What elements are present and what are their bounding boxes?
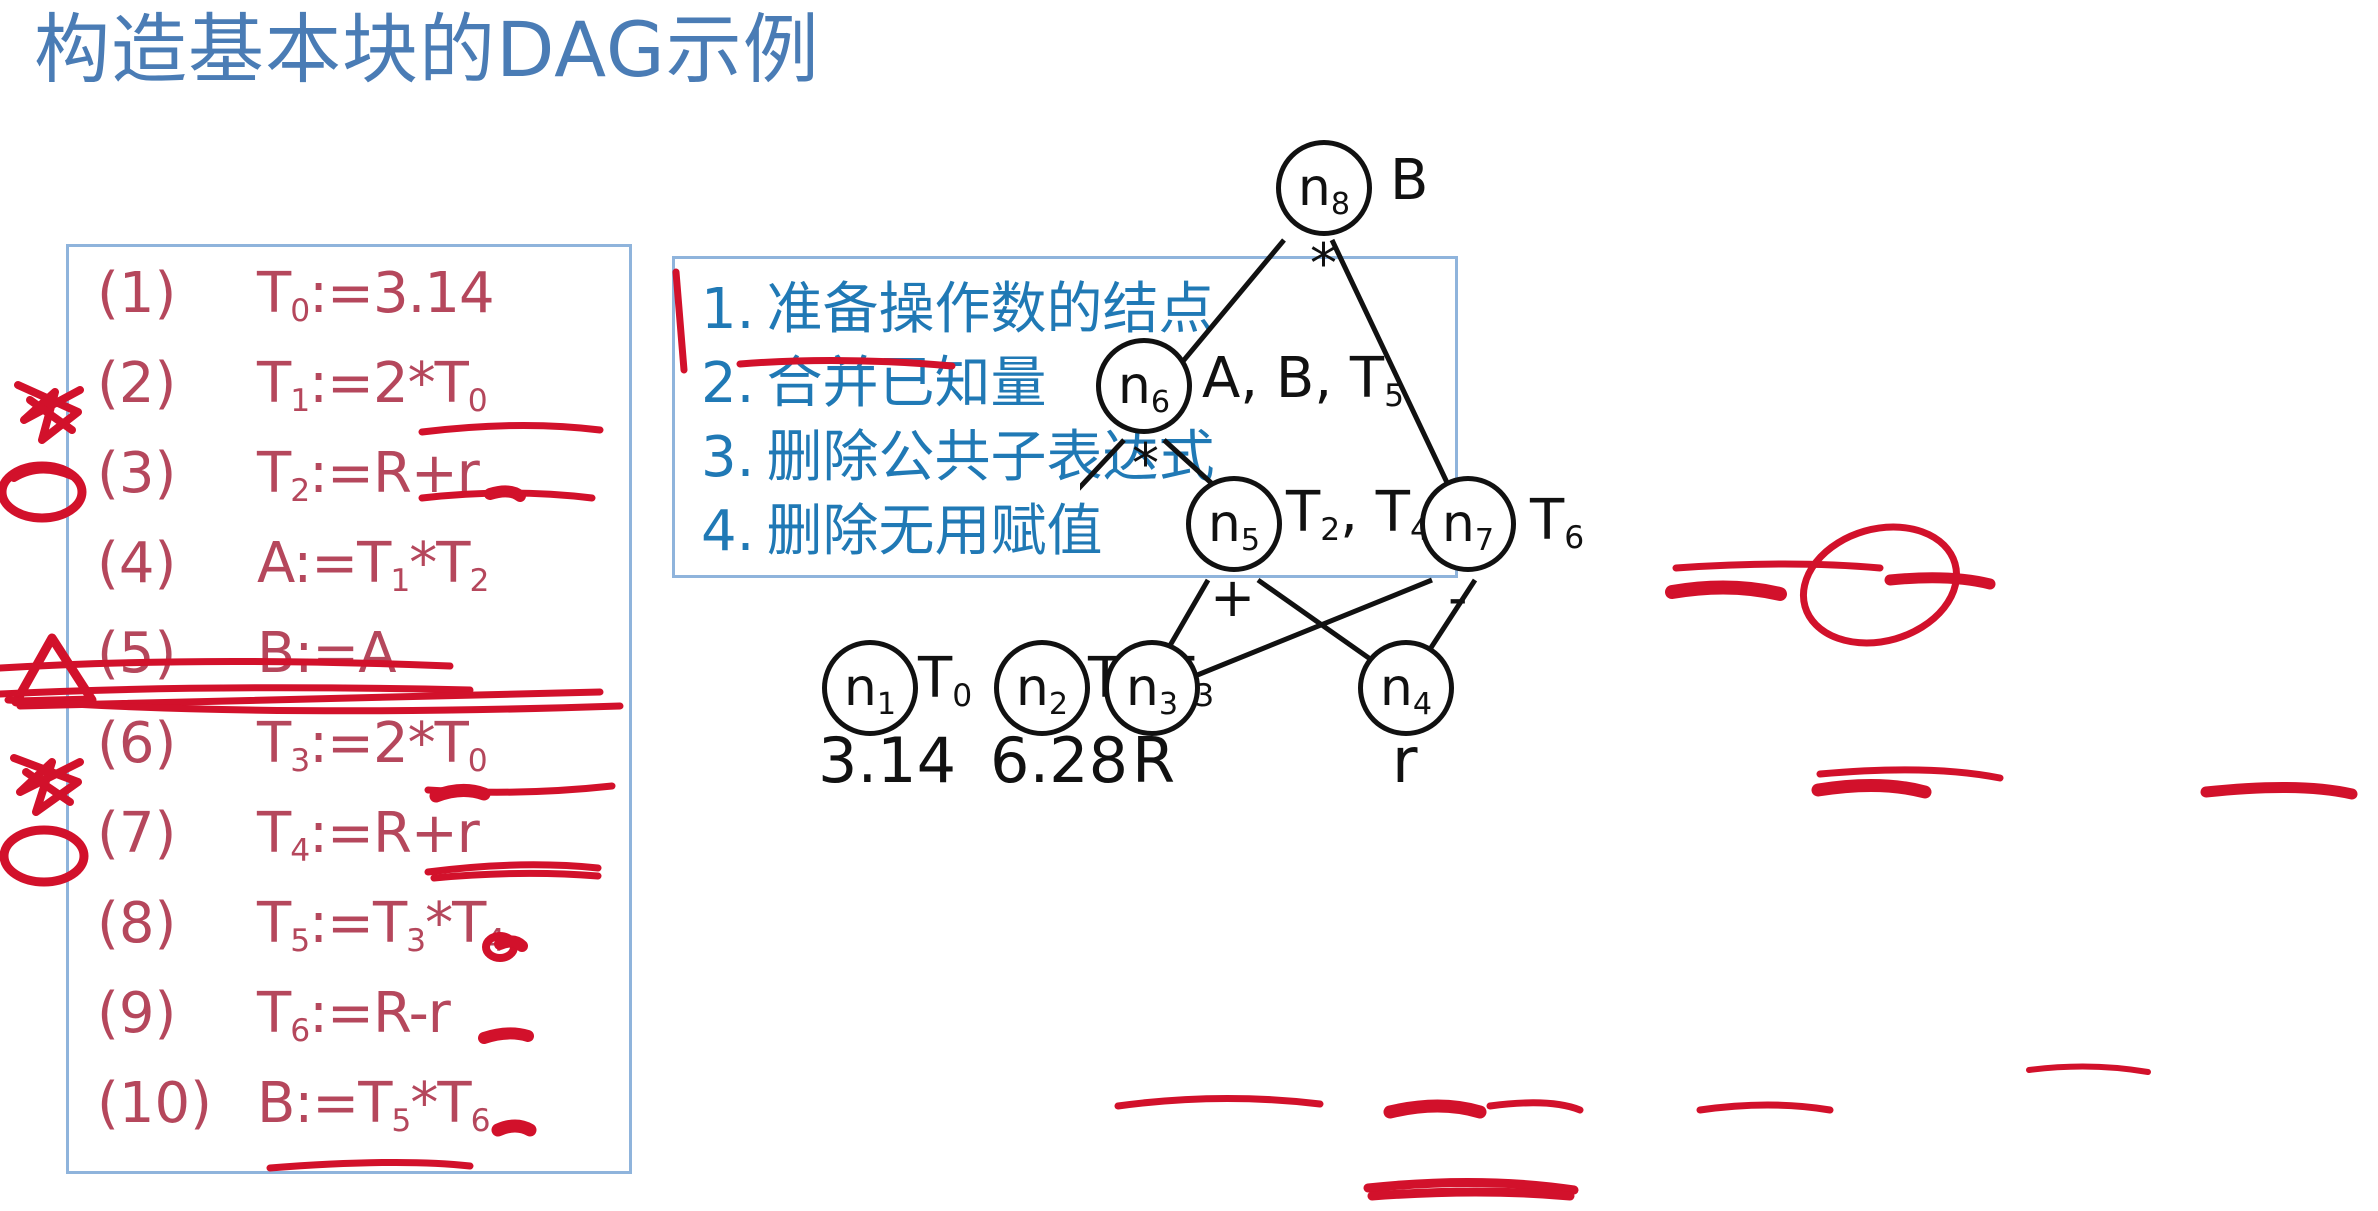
dag-node-name: n3: [1126, 658, 1178, 718]
dag-node-name: n4: [1380, 658, 1432, 718]
dag-node-op-n8: *: [1310, 232, 1337, 295]
code-line-number: (3): [69, 441, 257, 506]
dag-node-label-n6: A, B, T5: [1202, 346, 1404, 411]
dag-node-n2[interactable]: n2: [994, 640, 1090, 736]
dag-node-value-n1: 3.14: [818, 724, 956, 797]
code-line-number: (9): [69, 981, 257, 1046]
code-statement: T6:=R-r: [257, 981, 450, 1046]
dag-node-op-n6: *: [1132, 432, 1159, 495]
code-statement: T2:=R+r: [257, 441, 479, 506]
dag-node-name: n2: [1016, 658, 1068, 718]
dag-node-value-n3: R: [1132, 724, 1175, 797]
dag-node-n3[interactable]: n3: [1104, 640, 1200, 736]
dag-node-label-n1: T0: [918, 646, 972, 711]
dag-node-n1[interactable]: n1: [822, 640, 918, 736]
step-number: 2.: [701, 351, 754, 416]
step-number: 1.: [701, 277, 754, 342]
dag-edges: [1080, 140, 2378, 1210]
code-line-number: (2): [69, 351, 257, 416]
dag-node-n5[interactable]: n5: [1186, 476, 1282, 572]
dag-node-label-n5: T2, T4: [1286, 480, 1430, 545]
dag-node-name: n6: [1118, 356, 1170, 416]
code-statement: A:=T1*T2: [257, 531, 488, 596]
code-row: (10) B:=T5*T6: [69, 1071, 629, 1161]
page-title: 构造基本块的DAG示例: [34, 6, 820, 93]
code-statement: T5:=T3*T4: [257, 891, 504, 956]
dag-node-n6[interactable]: n6: [1096, 338, 1192, 434]
code-line-number: (7): [69, 801, 257, 866]
dag-node-name: n7: [1442, 494, 1494, 554]
code-line-number: (6): [69, 711, 257, 776]
dag-node-name: n5: [1208, 494, 1260, 554]
code-statement: T1:=2*T0: [257, 351, 487, 416]
code-listing: (1) T0:=3.14 (2) T1:=2*T0 (3) T2:=R+r (4…: [69, 247, 629, 1171]
code-line-number: (10): [69, 1071, 257, 1136]
step-number: 3.: [701, 425, 754, 490]
dag-diagram: n8 B * n6 A, B, T5 * n5 T2, T4 + n7 T6 -…: [1080, 140, 2378, 1210]
step-label: 删除无用赋值: [766, 499, 1102, 564]
code-row: (4) A:=T1*T2: [69, 531, 629, 621]
dag-node-label-n7: T6: [1530, 488, 1584, 553]
code-statement: T3:=2*T0: [257, 711, 487, 776]
code-statement: B:=A: [257, 621, 396, 686]
dag-node-label-n8: B: [1390, 148, 1428, 213]
dag-node-n8[interactable]: n8: [1276, 140, 1372, 236]
code-line-number: (4): [69, 531, 257, 596]
code-row: (8) T5:=T3*T4: [69, 891, 629, 981]
dag-node-op-n5: +: [1210, 566, 1255, 629]
code-statement: T0:=3.14: [257, 261, 494, 326]
dag-node-op-n7: -: [1448, 566, 1468, 629]
code-row: (2) T1:=2*T0: [69, 351, 629, 441]
code-statement: B:=T5*T6: [257, 1071, 490, 1136]
code-row: (3) T2:=R+r: [69, 441, 629, 531]
dag-node-name: n8: [1298, 158, 1350, 218]
code-listing-box: (1) T0:=3.14 (2) T1:=2*T0 (3) T2:=R+r (4…: [66, 244, 632, 1174]
dag-node-value-n4: r: [1392, 724, 1418, 797]
dag-node-n7[interactable]: n7: [1420, 476, 1516, 572]
code-row: (5) B:=A: [69, 621, 629, 711]
code-row: (6) T3:=2*T0: [69, 711, 629, 801]
code-line-number: (8): [69, 891, 257, 956]
code-row: (9) T6:=R-r: [69, 981, 629, 1071]
code-statement: T4:=R+r: [257, 801, 479, 866]
dag-node-n4[interactable]: n4: [1358, 640, 1454, 736]
code-line-number: (1): [69, 261, 257, 326]
code-line-number: (5): [69, 621, 257, 686]
step-number: 4.: [701, 499, 754, 564]
code-row: (1) T0:=3.14: [69, 261, 629, 351]
step-label: 合并已知量: [766, 351, 1046, 416]
code-row: (7) T4:=R+r: [69, 801, 629, 891]
dag-node-name: n1: [844, 658, 896, 718]
dag-node-value-n2: 6.28: [990, 724, 1128, 797]
